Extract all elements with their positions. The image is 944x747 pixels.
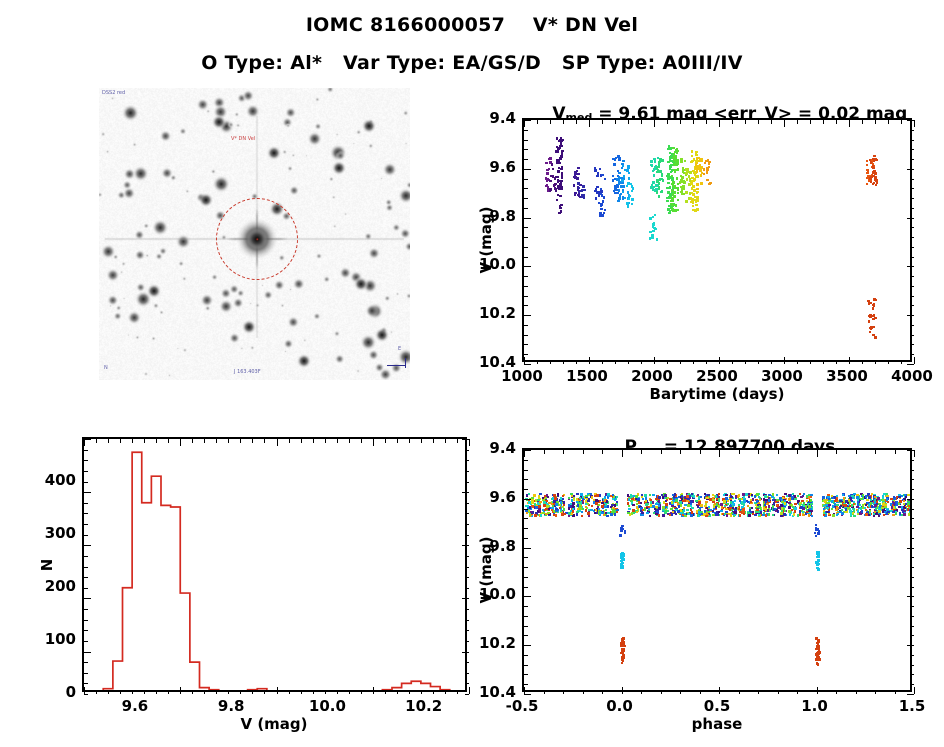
data-point [660,191,662,193]
data-point [751,494,753,496]
data-point [690,509,692,511]
data-point [543,501,545,503]
data-point [598,508,600,510]
data-point [636,511,638,513]
axis-tick [910,577,914,578]
axis-tick [910,489,914,490]
data-point [724,513,726,515]
x-tick-label: 9.8 [218,697,245,715]
axis-tick [84,482,88,483]
axis-tick [910,518,914,519]
histogram-plot-frame[interactable] [82,437,467,692]
axis-tick [910,247,914,248]
data-point [730,496,732,498]
axis-tick [465,567,469,568]
data-point [873,513,875,515]
data-point [632,504,634,506]
axis-tick [771,120,772,124]
data-point [616,496,618,498]
axis-tick [465,471,469,472]
data-point [696,199,698,201]
data-point [572,505,574,507]
histogram-xaxis-title: V (mag) [240,715,307,733]
data-point [794,510,796,512]
data-point [560,186,562,188]
axis-tick [204,690,205,694]
axis-tick [910,149,914,150]
axis-tick [108,690,109,694]
data-point [690,505,692,507]
axis-tick [524,684,528,685]
data-point [577,504,579,506]
data-point [689,495,691,497]
axis-tick [589,357,590,364]
data-point [621,642,624,645]
data-point [597,172,599,174]
axis-tick [84,567,88,568]
data-point [614,513,616,515]
axis-tick [524,499,531,500]
data-point [530,511,532,513]
data-point [672,494,674,496]
data-point [907,508,909,510]
data-point [600,204,602,206]
data-point [651,165,653,167]
axis-tick [910,335,914,336]
axis-tick [301,439,302,443]
data-point [654,161,656,163]
data-point [775,510,777,512]
data-point [852,497,854,499]
axis-tick [421,439,422,443]
axis-tick [524,635,528,636]
data-point [551,163,553,165]
data-point [555,190,557,192]
data-point [667,148,669,150]
axis-tick [84,652,91,653]
axis-tick [192,439,193,443]
data-point [673,153,675,155]
sky-finding-chart[interactable]: DSS2 red V* DN Vel J 163.403F N E [99,88,410,380]
axis-tick [524,528,528,529]
data-point [868,514,870,516]
axis-tick [910,626,914,627]
data-point [696,176,698,178]
axis-tick [914,120,915,127]
data-point [818,568,821,571]
data-point [675,209,677,211]
axis-tick [622,450,623,457]
data-point [697,505,699,507]
data-point [784,510,786,512]
axis-tick [823,120,824,124]
lightcurve-plot-frame[interactable] [522,118,912,362]
data-point [681,176,683,178]
axis-tick [132,439,133,443]
data-point [860,507,862,509]
data-point [692,205,694,207]
data-point [649,217,651,219]
data-point [674,204,676,206]
data-point [630,495,632,497]
axis-tick [589,120,590,127]
data-point [881,507,883,509]
lightcurve-plot-area [524,120,910,360]
data-point [754,495,756,497]
axis-tick [264,439,265,443]
axis-tick [910,665,914,666]
data-point [687,169,689,171]
data-point [550,158,552,160]
axis-tick [156,690,157,694]
histogram-yaxis-title: N [38,559,56,572]
data-point [630,500,632,502]
data-point [533,494,535,496]
image-id-label: J 163.403F [234,369,261,375]
axis-tick [361,439,362,443]
data-point [549,189,551,191]
axis-tick [700,690,701,694]
axis-tick [301,690,302,694]
axis-tick [817,450,818,457]
axis-tick [84,471,88,472]
data-point [696,208,698,210]
data-point [573,497,575,499]
data-point [619,534,621,536]
axis-tick [84,513,88,514]
data-point [831,508,833,510]
data-point [557,186,559,188]
axis-tick [108,439,109,443]
data-point [574,192,576,194]
data-point [852,512,854,514]
axis-tick [797,690,798,694]
y-tick-label: 100 [24,630,76,648]
axis-tick [622,687,623,694]
phase-plot-area [524,450,910,690]
data-point [874,178,876,180]
axis-tick [914,357,915,364]
data-point [627,512,629,514]
data-point [893,496,895,498]
axis-tick [385,439,386,443]
data-point [561,513,563,515]
data-point [651,236,653,238]
axis-tick [680,450,681,454]
data-point [705,515,707,517]
data-point [849,510,851,512]
axis-tick [84,609,88,610]
data-point [671,204,673,206]
axis-tick [910,188,914,189]
data-point [826,511,828,513]
data-point [627,191,629,193]
axis-tick [465,460,469,461]
data-point [577,173,579,175]
data-point [666,200,668,202]
data-point [580,501,582,503]
data-point [704,162,706,164]
data-point [817,561,820,564]
data-point [585,500,587,502]
data-point [772,514,774,516]
data-point [601,512,603,514]
data-point [646,512,648,514]
data-point [870,176,872,178]
data-point [817,528,819,530]
data-point [576,501,578,503]
data-point [622,191,624,193]
axis-tick [524,674,528,675]
data-point [698,515,700,517]
data-point [622,185,624,187]
axis-tick [84,630,88,631]
data-point [725,494,727,496]
data-point [822,496,824,498]
data-point [903,513,905,515]
data-point [658,496,660,498]
data-point [799,513,801,515]
data-point [676,160,678,162]
data-point [628,177,630,179]
y-tick-label: 10.2 [460,634,516,652]
axis-tick [524,315,531,316]
axis-tick [907,218,914,219]
data-point [612,494,614,496]
x-tick-label: 4000 [891,367,933,385]
data-point [691,150,693,152]
axis-tick [895,450,896,454]
data-point [780,512,782,514]
phase-plot-frame[interactable] [522,448,912,692]
axis-tick [421,690,422,694]
axis-tick [907,266,914,267]
data-point [869,331,871,333]
data-point [581,508,583,510]
data-point [583,189,585,191]
data-point [529,514,531,516]
x-tick-label: 10.2 [405,697,442,715]
axis-tick [132,690,133,694]
data-point [658,500,660,502]
data-point [903,503,905,505]
data-point [811,515,813,517]
axis-tick [771,360,772,364]
data-point [892,501,894,503]
data-point [574,175,576,177]
data-point [816,662,819,665]
data-point [624,169,626,171]
data-point [659,160,661,162]
data-point [739,511,741,513]
axis-tick [228,690,229,694]
data-point [696,157,698,159]
axis-tick [849,357,850,364]
data-point [682,514,684,516]
data-point [768,513,770,515]
axis-tick [524,159,528,160]
axis-tick [465,662,469,663]
data-point [866,183,868,185]
data-point [570,493,572,495]
axis-tick [910,509,914,510]
data-point [705,501,707,503]
data-point [679,181,681,183]
data-point [759,506,761,508]
data-point [901,506,903,508]
data-point [622,654,625,657]
data-point [908,513,910,515]
data-point [842,504,844,506]
data-point [693,495,695,497]
data-point [808,514,810,516]
data-point [816,556,819,559]
data-point [742,510,744,512]
data-point [721,506,723,508]
axis-tick [84,673,88,674]
data-point [651,184,653,186]
data-point [847,502,849,504]
data-point [758,514,760,516]
axis-tick [628,120,629,124]
data-point [561,139,563,141]
data-point [553,514,555,516]
axis-tick [240,439,241,443]
data-point [556,146,558,148]
data-point [652,189,654,191]
x-tick-label: 0.0 [606,697,633,715]
axis-tick [84,588,88,589]
axis-tick [144,439,145,443]
data-point [572,508,574,510]
axis-tick [550,120,551,124]
data-point [876,182,878,184]
histogram-steps [84,439,465,690]
data-point [870,181,872,183]
data-point [672,157,674,159]
axis-tick [778,450,779,454]
data-point [672,208,674,210]
data-point [695,163,697,165]
data-point [708,183,710,185]
data-point [725,508,727,510]
axis-tick [910,684,914,685]
data-point [848,499,850,501]
data-point [850,513,852,515]
axis-tick [602,450,603,454]
data-point [738,504,740,506]
axis-tick [910,460,914,461]
data-point [621,662,624,665]
axis-tick [641,120,642,124]
axis-tick [910,325,914,326]
axis-tick [563,360,564,364]
axis-tick [524,305,528,306]
axis-tick [563,690,564,694]
data-point [767,509,769,511]
data-point [622,649,625,652]
axis-tick [252,690,253,694]
axis-tick [910,528,914,529]
data-point [652,181,654,183]
axis-tick [84,524,88,525]
axis-tick [910,130,914,131]
data-point [581,515,583,517]
data-point [587,503,589,505]
y-tick-label: 10.2 [460,304,516,322]
axis-tick [661,690,662,694]
axis-tick [465,609,469,610]
data-point [545,162,547,164]
axis-tick [524,567,528,568]
data-point [810,499,812,501]
axis-tick [680,120,681,124]
axis-tick [745,360,746,364]
axis-tick [758,690,759,694]
data-point [853,515,855,517]
axis-tick [797,450,798,454]
data-point [601,505,603,507]
axis-tick [84,683,88,684]
data-point [843,497,845,499]
data-point [656,191,658,193]
axis-tick [409,690,410,694]
data-point [582,185,584,187]
data-point [568,497,570,499]
data-point [759,499,761,501]
data-point [683,509,685,511]
data-point [729,507,731,509]
data-point [676,187,678,189]
data-point [853,503,855,505]
axis-tick [875,690,876,694]
data-point [596,512,598,514]
axis-tick [524,237,528,238]
data-point [599,168,601,170]
axis-tick [888,360,889,364]
axis-tick [524,247,528,248]
axis-tick [524,470,528,471]
data-point [627,502,629,504]
data-point [618,189,620,191]
axis-tick [910,344,914,345]
data-point [563,508,565,510]
data-point [677,510,679,512]
data-point [646,503,648,505]
data-point [695,167,697,169]
data-point [831,497,833,499]
data-point [882,495,884,497]
page-title: IOMC 8166000057 V* DN Vel [0,14,944,36]
data-point [750,501,752,503]
data-point [671,175,673,177]
data-point [626,185,628,187]
data-point [866,164,868,166]
data-point [808,494,810,496]
data-point [802,511,804,513]
data-point [621,525,623,527]
axis-tick [524,645,531,646]
axis-tick [524,687,525,694]
axis-tick [680,690,681,694]
data-point [693,170,695,172]
axis-tick [732,120,733,124]
data-point [686,192,688,194]
data-point [674,186,676,188]
axis-tick [910,140,914,141]
axis-tick [910,587,914,588]
data-point [797,495,799,497]
